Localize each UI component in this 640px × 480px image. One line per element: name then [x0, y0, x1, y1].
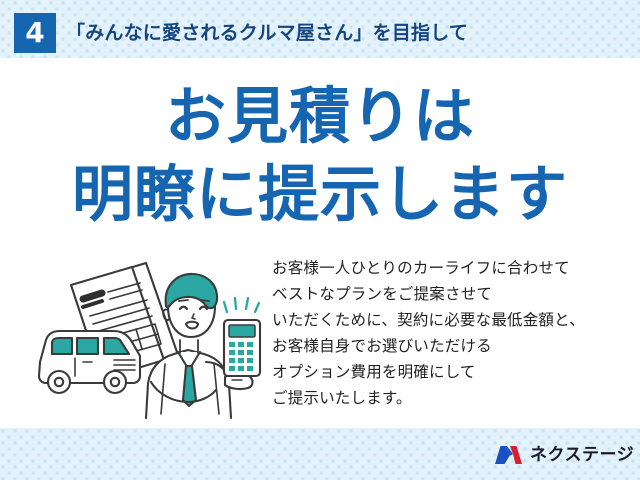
body-copy: お客様一人ひとりのカーライフに合わせて ベストなプランをご提案させて いただくた…	[272, 255, 622, 411]
headline-line-1: お見積りは	[0, 83, 640, 151]
headline-line-2: 明瞭に提示します	[0, 161, 640, 229]
promo-banner: 4 「みんなに愛されるクルマ屋さん」を目指して お見積りは 明瞭に提示します	[0, 0, 640, 480]
sales-staff-illustration	[28, 252, 268, 422]
illustration-svg	[28, 252, 268, 422]
body-copy-line: お客様自身でお選びいただける	[272, 333, 622, 359]
body-copy-line: ベストなプランをご提案させて	[272, 281, 622, 307]
header-title: 「みんなに愛されるクルマ屋さん」を目指して	[66, 16, 468, 50]
body-copy-line: お客様一人ひとりのカーライフに合わせて	[272, 255, 622, 281]
sparkle-icon	[224, 298, 259, 312]
body-copy-line: いただくために、契約に必要な最低金額と、	[272, 307, 622, 333]
brand-name: ネクステージ	[530, 444, 634, 466]
brand-logo: ネクステージ	[494, 442, 634, 468]
minivan-illustration	[39, 331, 140, 393]
calculator-icon	[224, 320, 260, 376]
body-copy-line: ご提示いたします。	[272, 385, 622, 411]
body-copy-line: オプション費用を明確にして	[272, 359, 622, 385]
n-logo-icon	[494, 444, 524, 466]
section-number-badge: 4	[14, 13, 56, 53]
